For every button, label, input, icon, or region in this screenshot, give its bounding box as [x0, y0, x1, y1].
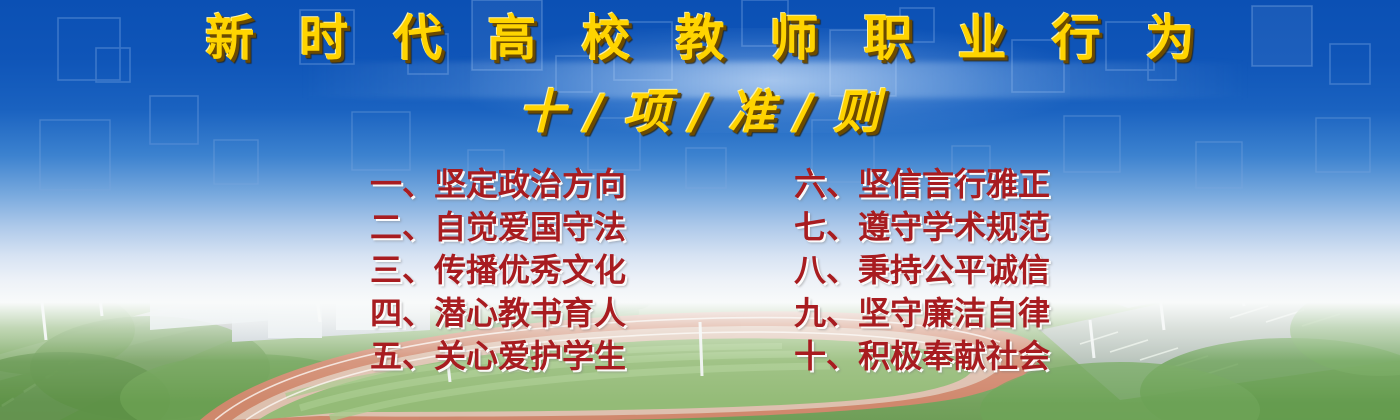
- precept-item-10: 十、积极奉献社会: [792, 335, 1050, 378]
- precept-item-7: 七、遵守学术规范: [792, 206, 1050, 249]
- precept-item-3: 三、传播优秀文化: [370, 249, 626, 292]
- precept-item-9: 九、坚守廉洁自律: [792, 292, 1050, 335]
- precept-item-1: 一、坚定政治方向: [370, 163, 626, 206]
- precept-item-8: 八、秉持公平诚信: [792, 249, 1050, 292]
- precept-item-4: 四、潜心教书育人: [370, 292, 626, 335]
- main-title: 新 时 代 高 校 教 师 职 业 行 为: [0, 9, 1400, 69]
- poster-content: 新 时 代 高 校 教 师 职 业 行 为 十 / 项 / 准 / 则 一、坚定…: [0, 0, 1400, 420]
- precept-item-2: 二、自觉爱国守法: [370, 206, 626, 249]
- banner-poster: 新 时 代 高 校 教 师 职 业 行 为 十 / 项 / 准 / 则 一、坚定…: [0, 0, 1400, 420]
- sub-title: 十 / 项 / 准 / 则: [0, 84, 1400, 142]
- precepts-list: 一、坚定政治方向 二、自觉爱国守法 三、传播优秀文化 四、潜心教书育人 五、关心…: [370, 163, 1050, 378]
- precepts-left-column: 一、坚定政治方向 二、自觉爱国守法 三、传播优秀文化 四、潜心教书育人 五、关心…: [370, 163, 626, 378]
- precept-item-5: 五、关心爱护学生: [370, 335, 626, 378]
- precepts-right-column: 六、坚信言行雅正 七、遵守学术规范 八、秉持公平诚信 九、坚守廉洁自律 十、积极…: [792, 163, 1050, 378]
- precept-item-6: 六、坚信言行雅正: [792, 163, 1050, 206]
